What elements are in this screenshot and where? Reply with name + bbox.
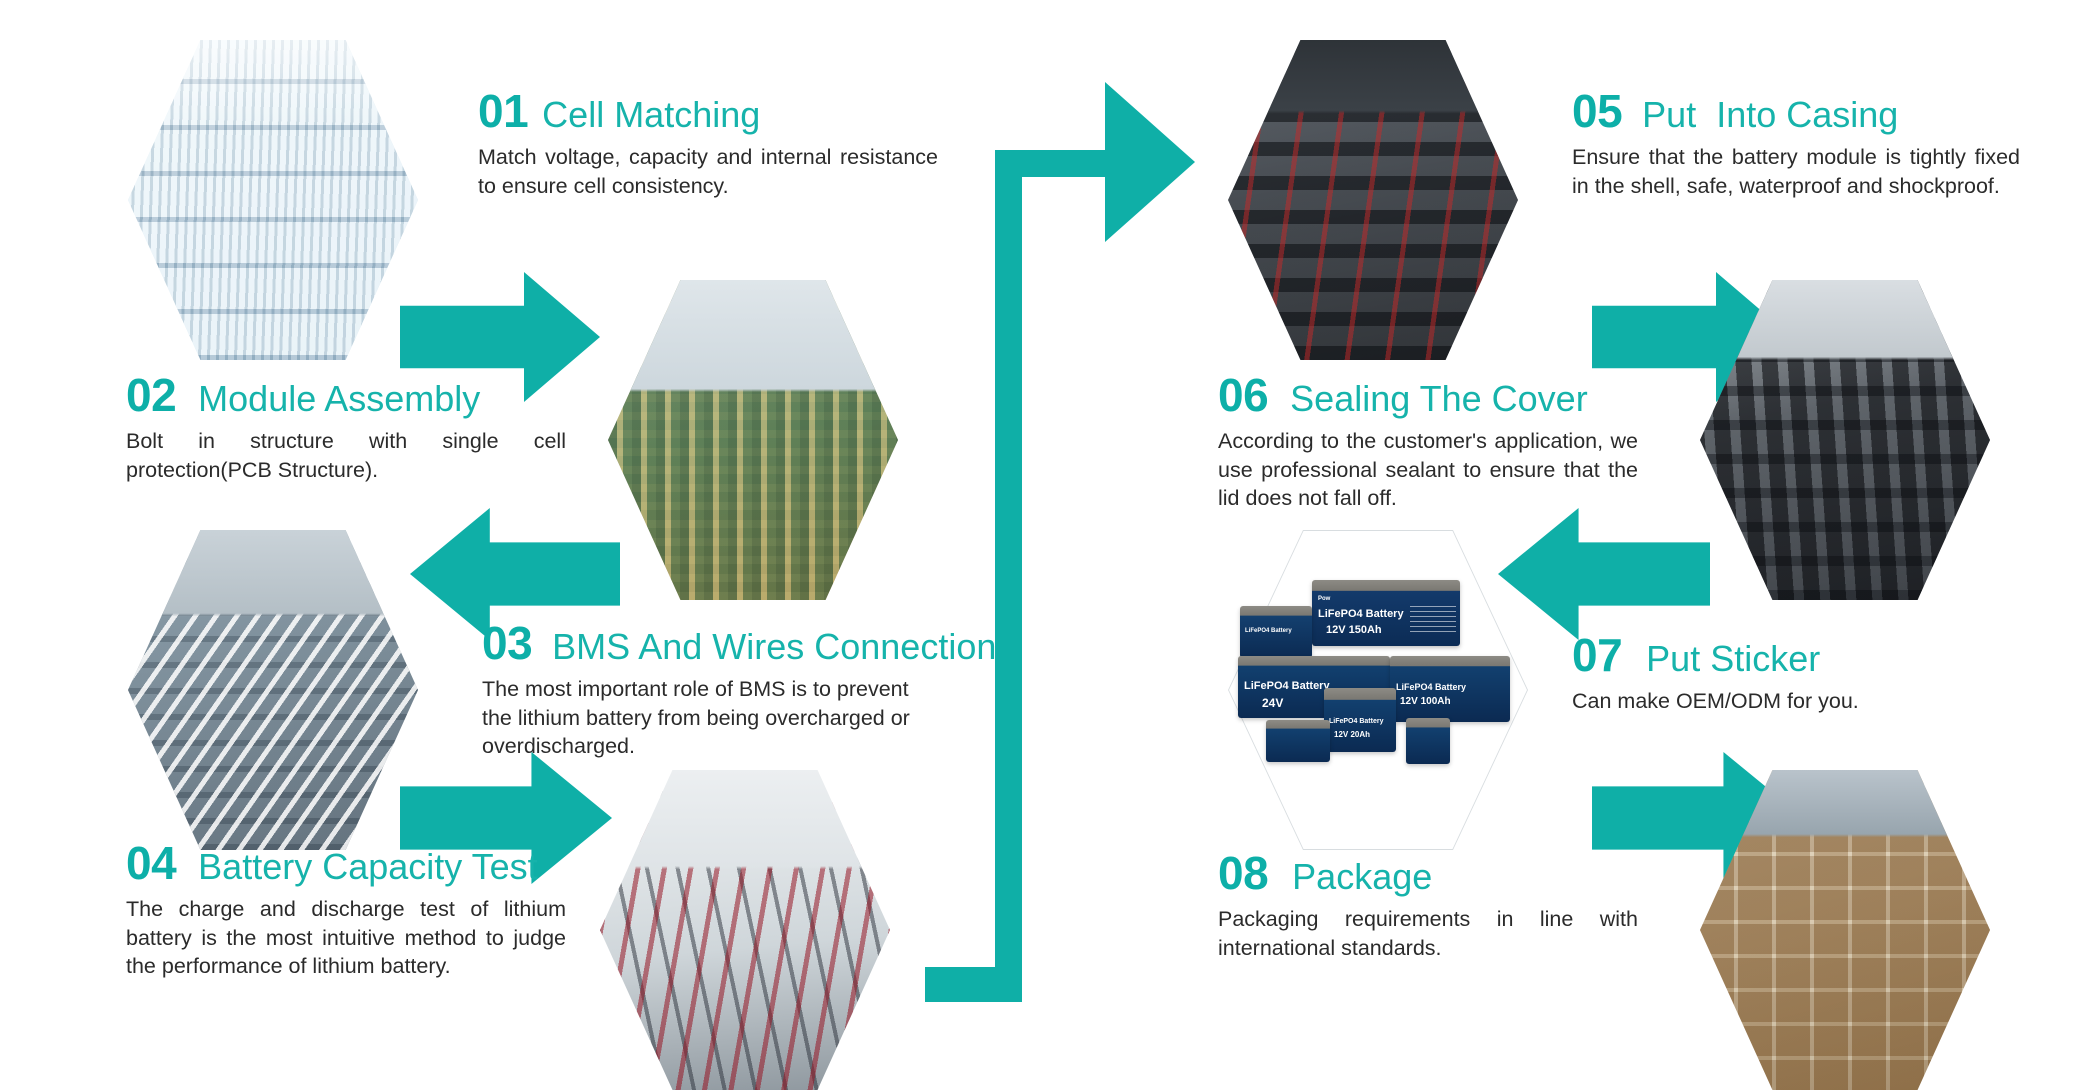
step-03-text: 03 BMS And Wires Connection The most imp… bbox=[482, 620, 952, 761]
step-02-heading: 02 Module Assembly bbox=[126, 372, 566, 418]
step-01-heading: 01 Cell Matching bbox=[478, 88, 938, 134]
step-08-text: 08 Package Packaging requirements in lin… bbox=[1218, 850, 1638, 962]
battery-center-label: LiFePO4 Battery bbox=[1329, 718, 1383, 725]
step-07-number: 07 bbox=[1572, 632, 1622, 678]
battery-tiny-left bbox=[1266, 720, 1330, 762]
step-07-title: Put Sticker bbox=[1646, 641, 1820, 677]
step-03-heading: 03 BMS And Wires Connection bbox=[482, 620, 952, 666]
step-06-title: Sealing The Cover bbox=[1290, 381, 1588, 417]
battery-small-left-label: LiFePO4 Battery bbox=[1245, 628, 1292, 634]
photo-put-into-casing bbox=[1228, 40, 1518, 360]
step-05-body: Ensure that the battery module is tightl… bbox=[1572, 143, 2020, 200]
step-03-number: 03 bbox=[482, 620, 532, 666]
photo-capacity-test bbox=[600, 770, 890, 1090]
step-07-body: Can make OEM/ODM for you. bbox=[1572, 687, 1992, 716]
step-04-number: 04 bbox=[126, 840, 176, 886]
step-08-number: 08 bbox=[1218, 850, 1268, 896]
step-05-image bbox=[1228, 40, 1518, 360]
battery-right-spec: 12V 100Ah bbox=[1400, 696, 1451, 707]
battery-wide-left-label: LiFePO4 Battery bbox=[1244, 680, 1330, 692]
photo-module-assembly bbox=[608, 280, 898, 600]
step-07-heading: 07 Put Sticker bbox=[1572, 632, 1992, 678]
step-05-title: Put Into Casing bbox=[1642, 97, 1898, 133]
arrow-04-to-05-icon bbox=[910, 72, 1210, 1002]
step-02-body: Bolt in structure with single cell prote… bbox=[126, 427, 566, 484]
photo-cell-matching bbox=[128, 40, 418, 360]
step-04-title: Battery Capacity Test bbox=[198, 849, 538, 885]
step-02-title: Module Assembly bbox=[198, 381, 480, 417]
step-01-image bbox=[128, 40, 418, 360]
photo-bms-wires bbox=[128, 530, 418, 850]
step-06-text: 06 Sealing The Cover According to the cu… bbox=[1218, 372, 1638, 513]
step-01-text: 01 Cell Matching Match voltage, capacity… bbox=[478, 88, 938, 200]
battery-main: Pow LiFePO4 Battery 12V 150Ah bbox=[1312, 580, 1460, 646]
battery-center-spec: 12V 20Ah bbox=[1334, 730, 1370, 739]
battery-product-group: Pow LiFePO4 Battery 12V 150Ah LiFePO4 Ba… bbox=[1238, 560, 1518, 830]
step-04-heading: 04 Battery Capacity Test bbox=[126, 840, 566, 886]
step-05-number: 05 bbox=[1572, 88, 1622, 134]
battery-wide-left-spec: 24V bbox=[1262, 696, 1283, 710]
step-01-title: Cell Matching bbox=[542, 97, 760, 133]
step-01-number: 01 bbox=[478, 88, 528, 134]
step-06-number: 06 bbox=[1218, 372, 1268, 418]
step-08-heading: 08 Package bbox=[1218, 850, 1638, 896]
step-08-body: Packaging requirements in line with inte… bbox=[1218, 905, 1638, 962]
step-05-text: 05 Put Into Casing Ensure that the batte… bbox=[1572, 88, 2020, 200]
step-03-image bbox=[128, 530, 418, 850]
arrow-06-to-07-icon bbox=[1498, 508, 1710, 640]
step-06-body: According to the customer's application,… bbox=[1218, 427, 1638, 513]
step-02-text: 02 Module Assembly Bolt in structure wit… bbox=[126, 372, 566, 484]
battery-main-brand: Pow bbox=[1318, 596, 1330, 602]
battery-tiny-right bbox=[1406, 718, 1450, 764]
step-04-image bbox=[600, 770, 890, 1090]
battery-main-label: LiFePO4 Battery bbox=[1318, 608, 1404, 620]
step-06-heading: 06 Sealing The Cover bbox=[1218, 372, 1638, 418]
battery-center: LiFePO4 Battery 12V 20Ah bbox=[1324, 688, 1396, 752]
step-07-text: 07 Put Sticker Can make OEM/ODM for you. bbox=[1572, 632, 1992, 716]
step-05-heading: 05 Put Into Casing bbox=[1572, 88, 2020, 134]
battery-right: LiFePO4 Battery 12V 100Ah bbox=[1390, 656, 1510, 722]
step-08-title: Package bbox=[1292, 859, 1432, 895]
battery-main-spec: 12V 150Ah bbox=[1326, 624, 1382, 636]
step-01-body: Match voltage, capacity and internal res… bbox=[478, 143, 938, 200]
step-04-body: The charge and discharge test of lithium… bbox=[126, 895, 566, 981]
battery-right-label: LiFePO4 Battery bbox=[1396, 682, 1466, 692]
step-02-image bbox=[608, 280, 898, 600]
step-04-text: 04 Battery Capacity Test The charge and … bbox=[126, 840, 566, 981]
battery-small-left: LiFePO4 Battery bbox=[1240, 606, 1312, 658]
process-flow-infographic: 01 Cell Matching Match voltage, capacity… bbox=[0, 0, 2100, 1084]
step-03-body: The most important role of BMS is to pre… bbox=[482, 675, 930, 761]
step-02-number: 02 bbox=[126, 372, 176, 418]
